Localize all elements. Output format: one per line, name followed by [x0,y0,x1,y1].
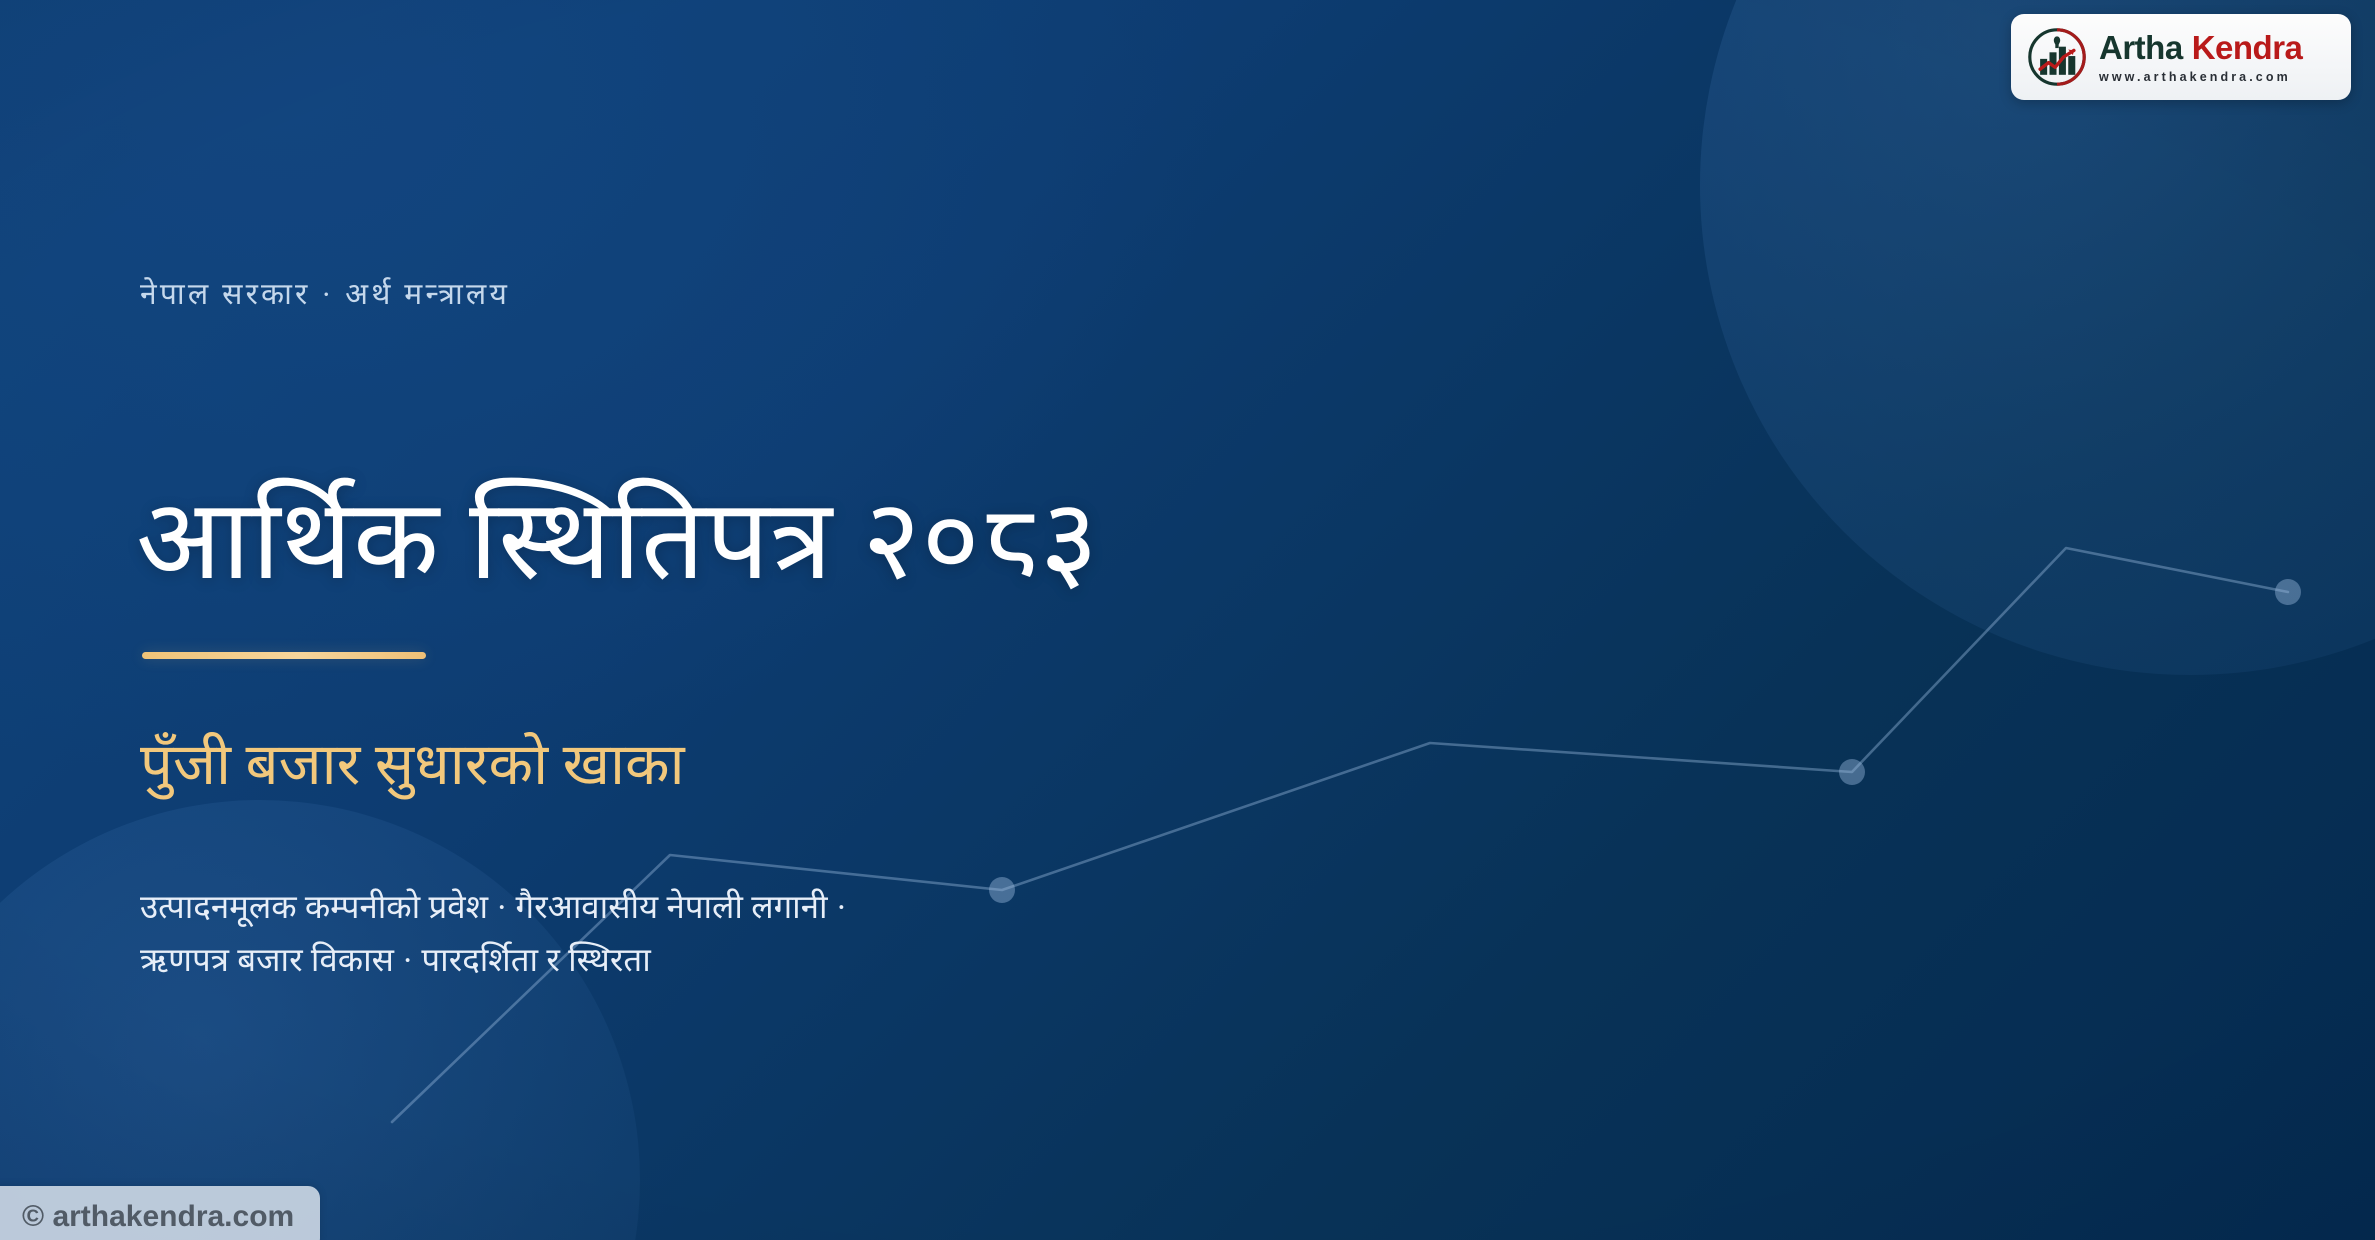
brand-logo-card[interactable]: ArthaKendra www.arthakendra.com [2011,14,2351,100]
page-description: उत्पादनमूलक कम्पनीको प्रवेश · गैरआवासीय … [140,882,847,989]
sparkline-marker-dot [2275,579,2301,605]
artha-kendra-emblem-icon [2027,27,2087,87]
ministry-eyebrow: नेपाल सरकार · अर्थ मन्त्रालय [140,272,510,313]
slide-content: नेपाल सरकार · अर्थ मन्त्रालय आर्थिक स्थि… [140,0,1640,1240]
brand-url[interactable]: www.arthakendra.com [2099,70,2337,84]
title-slide: ArthaKendra www.arthakendra.com नेपाल सर… [0,0,2375,1240]
copyright-watermark: © arthakendra.com [0,1186,320,1240]
description-line: ऋणपत्र बजार विकास · पारदर्शिता र स्थिरता [140,935,847,988]
description-line: उत्पादनमूलक कम्पनीको प्रवेश · गैरआवासीय … [140,882,847,935]
gold-divider [142,652,426,659]
brand-wordmark: ArthaKendra [2099,31,2337,64]
decorative-circle-top-right [1700,0,2375,675]
brand-word-kendra: Kendra [2192,29,2303,66]
page-title: आर्थिक स्थितिपत्र २०८३ [136,475,1099,607]
sparkline-marker-dot [1839,759,1865,785]
page-subtitle: पुँजी बजार सुधारको खाका [140,727,685,802]
brand-word-artha: Artha [2099,29,2183,66]
